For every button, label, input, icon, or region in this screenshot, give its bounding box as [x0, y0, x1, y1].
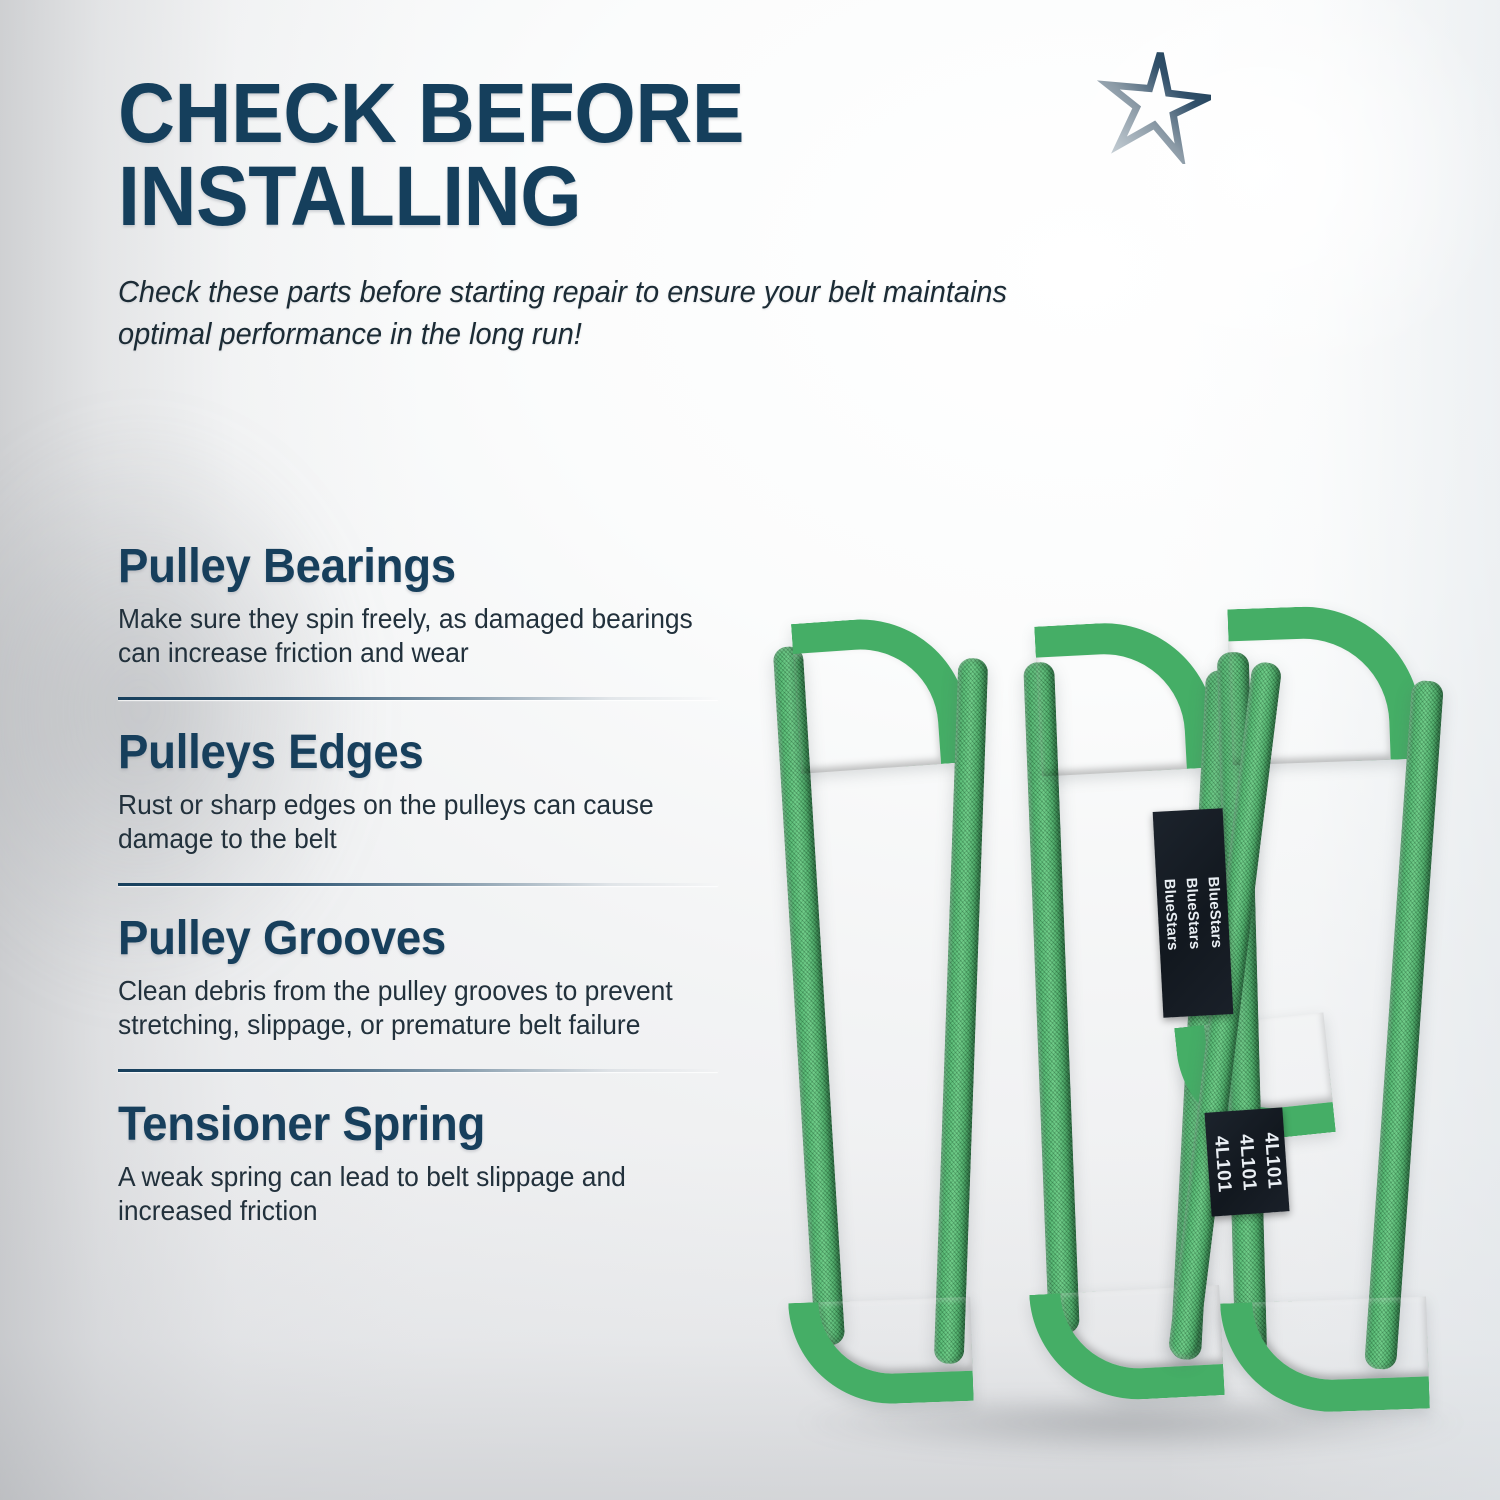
feature-description: Rust or sharp edges on the pulleys can c…: [118, 788, 694, 857]
belt-bend-top: [791, 612, 971, 773]
feature-title: Pulley Bearings: [118, 540, 688, 594]
feature-description: Clean debris from the pulley grooves to …: [118, 974, 694, 1043]
feature-item-pulleys-edges: Pulleys Edges Rust or sharp edges on the…: [118, 726, 718, 857]
infographic-page: CHECK BEFORE INSTALLING Check these part…: [0, 0, 1500, 1500]
feature-divider: [118, 883, 718, 886]
part-number-label-4l101: 4L101 4L101 4L101: [1204, 1107, 1289, 1216]
feature-divider: [118, 1069, 718, 1072]
feature-item-pulley-bearings: Pulley Bearings Make sure they spin free…: [118, 540, 718, 671]
feature-item-tensioner-spring: Tensioner Spring A weak spring can lead …: [118, 1098, 718, 1229]
part-number-line: 4L101: [1260, 1131, 1283, 1189]
belt-coil: BlueStars BlueStars BlueStars 4L101 4L10…: [760, 600, 1500, 1450]
belt-bend-top: [1034, 617, 1218, 776]
feature-description: Make sure they spin freely, as damaged b…: [118, 602, 694, 671]
part-number-line: 4L101: [1211, 1135, 1234, 1193]
feature-item-pulley-grooves: Pulley Grooves Clean debris from the pul…: [118, 912, 718, 1043]
feature-title: Pulley Grooves: [118, 912, 688, 966]
product-image-v-belt: BlueStars BlueStars BlueStars 4L101 4L10…: [760, 600, 1500, 1450]
page-title: CHECK BEFORE INSTALLING: [118, 72, 1058, 238]
feature-description: A weak spring can lead to belt slippage …: [118, 1160, 694, 1229]
brand-label-line: BlueStars: [1184, 877, 1203, 950]
belt-strand: [1364, 680, 1444, 1371]
brand-label-line: BlueStars: [1206, 876, 1225, 949]
belt-bend-bottom: [788, 1297, 974, 1407]
header: CHECK BEFORE INSTALLING Check these part…: [118, 72, 1118, 355]
brand-label-line: BlueStars: [1162, 878, 1181, 951]
part-number-line: 4L101: [1236, 1133, 1259, 1191]
brand-label-bluestars: BlueStars BlueStars BlueStars: [1153, 808, 1234, 1017]
feature-title: Pulleys Edges: [118, 726, 688, 780]
feature-list: Pulley Bearings Make sure they spin free…: [118, 540, 718, 1229]
feature-divider: [118, 697, 718, 700]
page-subtitle: Check these parts before starting repair…: [118, 272, 1201, 355]
belt-bend-bottom: [1220, 1296, 1430, 1415]
feature-title: Tensioner Spring: [118, 1098, 688, 1152]
